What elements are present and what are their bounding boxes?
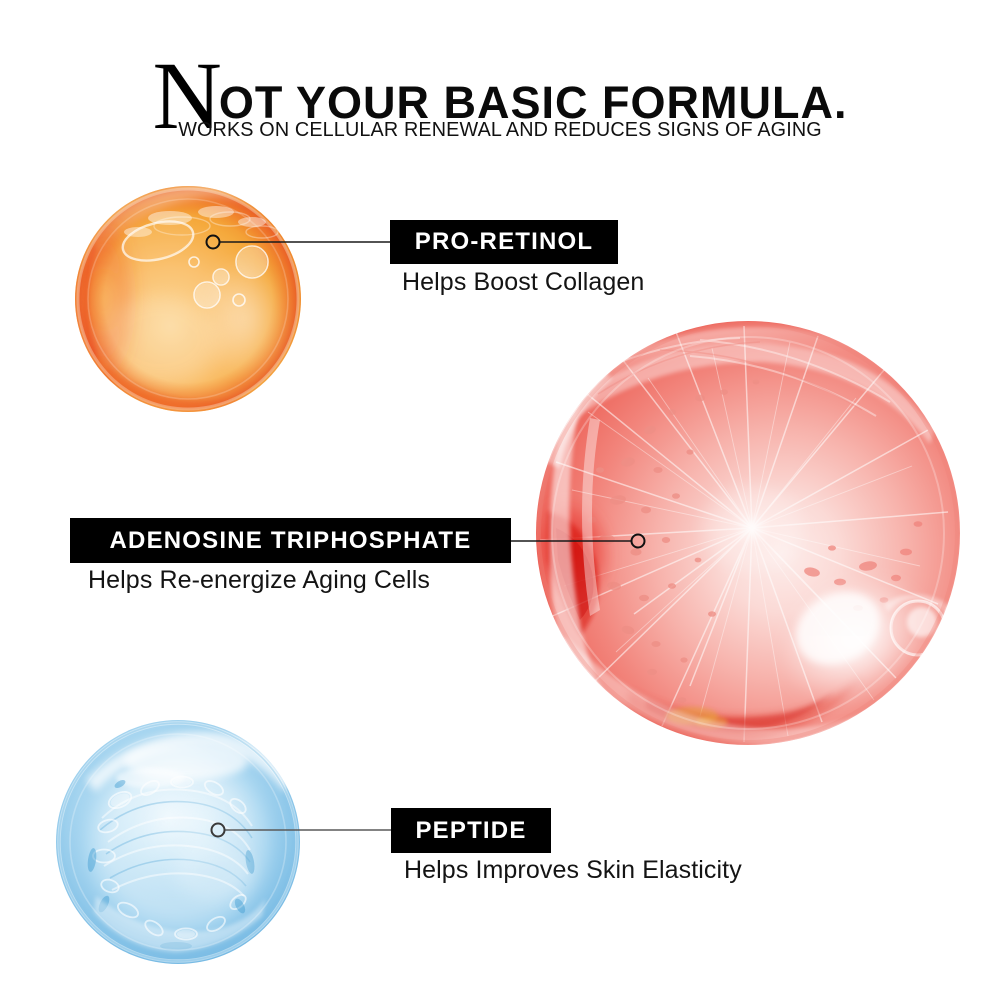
ingredient-label-text: ADENOSINE TRIPHOSPHATE xyxy=(70,527,511,555)
page-title: N OT YOUR BASIC FORMULA. xyxy=(0,38,1000,114)
ingredient-label-adenosine-triphosphate: ADENOSINE TRIPHOSPHATE xyxy=(70,518,511,563)
ingredient-label-text: PRO-RETINOL xyxy=(390,228,618,256)
ingredient-description-adenosine-triphosphate: Helps Re-energize Aging Cells xyxy=(88,566,430,595)
pink-gel-sphere-graphic xyxy=(517,321,962,745)
ingredient-label-text: PEPTIDE xyxy=(391,817,551,845)
ingredient-description-peptide: Helps Improves Skin Elasticity xyxy=(404,856,742,885)
ingredient-label-pro-retinol: PRO-RETINOL xyxy=(390,220,618,264)
ingredient-description-pro-retinol: Helps Boost Collagen xyxy=(402,268,644,297)
orange-oil-droplet-graphic xyxy=(65,184,302,422)
blue-water-sphere-graphic xyxy=(56,720,300,964)
ingredient-label-peptide: PEPTIDE xyxy=(391,808,551,853)
page-subtitle: WORKS ON CELLULAR RENEWAL AND REDUCES SI… xyxy=(18,118,983,142)
